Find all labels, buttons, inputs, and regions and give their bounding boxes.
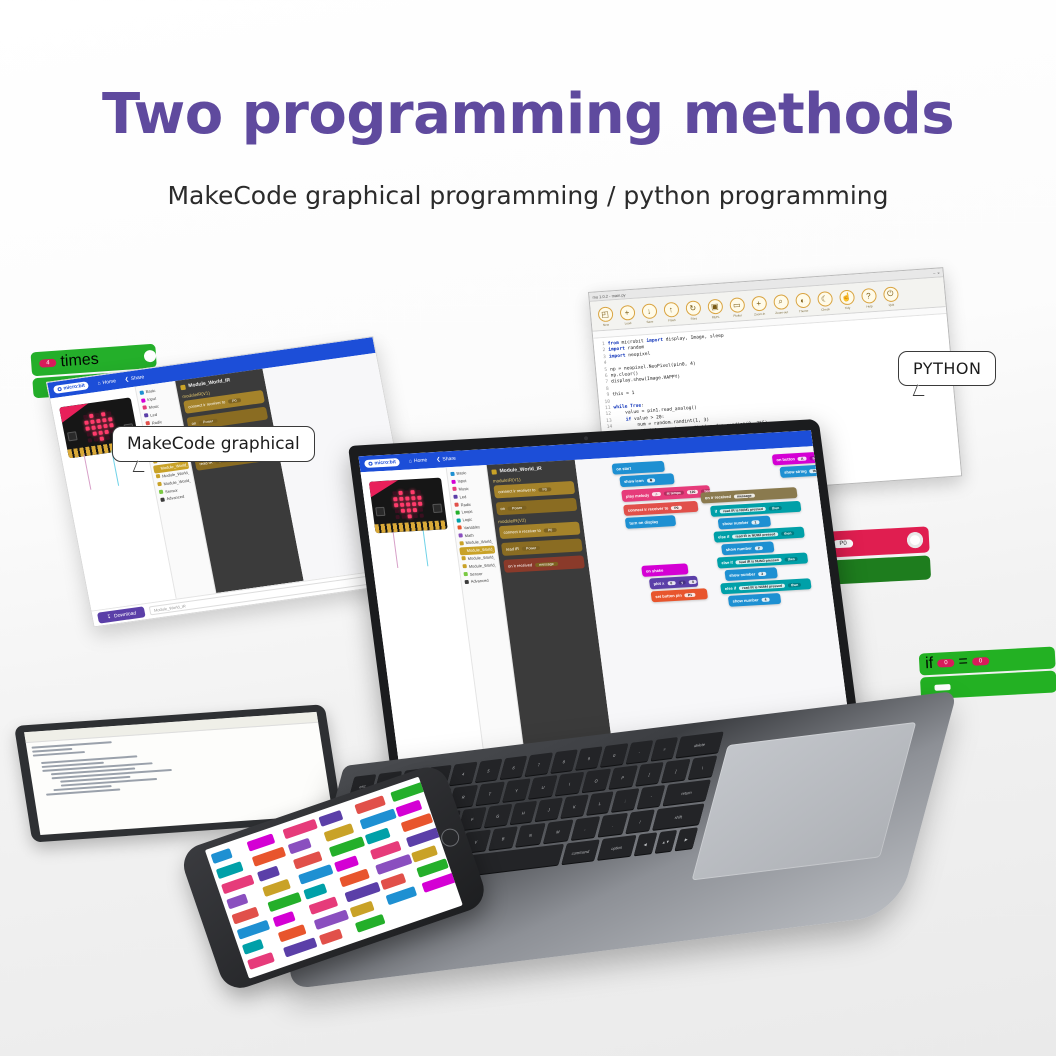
toolbox-category-label: Loops xyxy=(461,509,473,515)
flyout-block-value: P0 xyxy=(538,487,551,492)
home-icon: ⌂ xyxy=(409,458,413,464)
toolbar-label: New xyxy=(603,322,609,326)
toolbox-category-label: Module_World_IR xyxy=(466,547,494,554)
nav-home-button[interactable]: ⌂ Home xyxy=(409,457,428,464)
flyout-block-label: on xyxy=(500,506,505,511)
phone-block-tile xyxy=(278,924,307,942)
category-color-icon xyxy=(139,390,144,394)
category-color-icon xyxy=(456,518,461,522)
workspace-block[interactable]: on shake xyxy=(641,563,688,577)
led-matrix xyxy=(83,411,116,442)
phone-block-tile xyxy=(252,847,286,867)
flyout-block-label: read IR xyxy=(506,546,520,552)
keyboard-key[interactable]: delete xyxy=(676,731,724,757)
keyboard-key[interactable]: shift xyxy=(653,803,705,830)
workspace-block-label: plot x xyxy=(653,581,664,587)
workspace-block-label: else if xyxy=(721,560,733,566)
flyout-block[interactable]: read IR Power xyxy=(501,538,583,556)
flyout-block-value: message xyxy=(535,561,558,566)
led-pixel xyxy=(393,503,398,507)
phone-block-tile xyxy=(298,864,333,885)
toolbox-category-label: Music xyxy=(458,486,469,492)
callout-python-label: PYTHON xyxy=(913,359,981,378)
flyout-block-label: connect ir receiver to xyxy=(188,399,226,409)
repl-icon[interactable]: ▣REPL xyxy=(704,298,726,319)
category-color-icon xyxy=(154,467,159,471)
keyboard-key[interactable]: ] xyxy=(662,759,691,783)
keyboard-key[interactable]: L xyxy=(586,791,614,815)
plotter-icon-glyph: ▭ xyxy=(729,297,745,313)
toolbox-category-label: Basic xyxy=(456,471,466,477)
flash-icon[interactable]: ↑Flash xyxy=(660,301,682,322)
help-icon[interactable]: ?Help xyxy=(858,287,880,308)
keyboard-key[interactable]: ; xyxy=(612,788,640,812)
flyout-block[interactable]: connect ir receiver to P0 xyxy=(499,522,581,540)
laptop-trackpad[interactable] xyxy=(692,722,917,881)
keyboard-key[interactable]: ◀ xyxy=(634,832,657,855)
keyboard-key[interactable]: N xyxy=(516,823,546,847)
led-pixel xyxy=(104,430,109,434)
keyboard-key[interactable]: command xyxy=(561,839,600,864)
led-pixel xyxy=(398,491,403,495)
workspace-block-value[interactable]: A xyxy=(798,456,807,460)
quit-icon-glyph: ⏻ xyxy=(882,286,898,302)
led-pixel xyxy=(417,502,422,506)
keyboard-key[interactable]: return xyxy=(663,779,711,805)
microbit-button-a[interactable] xyxy=(375,507,385,516)
workspace-block-value[interactable]: pressed xyxy=(809,455,829,460)
workspace-block-label: show number xyxy=(725,546,752,552)
workspace-block[interactable]: connect ir receiver toP0 xyxy=(623,501,699,516)
toolbox-category-label: Input xyxy=(147,396,157,402)
share-icon: ❮ xyxy=(124,376,129,382)
toolbox-category-label: Led xyxy=(150,412,158,418)
flyout-block-label: connect ir receiver to xyxy=(498,487,536,494)
keyboard-key[interactable]: / xyxy=(625,809,655,833)
led-pixel xyxy=(401,515,406,519)
workspace-block-value[interactable]: message xyxy=(734,493,755,498)
category-color-icon xyxy=(464,580,469,584)
toolbox-category-label: Music xyxy=(148,403,159,409)
led-pixel xyxy=(86,432,91,436)
toolbox-category-label: Input xyxy=(457,478,467,483)
keyboard-key[interactable]: M xyxy=(543,819,573,843)
led-pixel xyxy=(405,502,410,506)
led-pixel xyxy=(90,420,95,424)
toolbox-category-label: Basic xyxy=(145,388,156,394)
flyout-title-label: Module_World_IR xyxy=(499,466,542,474)
phone-block-tile xyxy=(211,848,233,864)
sim-wire-pink xyxy=(393,532,399,568)
keyboard-key[interactable]: 7 xyxy=(525,752,553,776)
led-pixel xyxy=(97,425,102,429)
download-label: Download xyxy=(114,610,137,619)
flyout-block-value: Power xyxy=(508,505,527,510)
phone-block-tile xyxy=(386,886,418,905)
workspace-block-label: connect ir receiver to xyxy=(627,505,668,512)
led-pixel xyxy=(399,497,404,501)
phone-block-tile xyxy=(267,892,301,912)
plotter-icon[interactable]: ▭Plotter xyxy=(726,296,748,317)
category-color-icon xyxy=(450,472,455,476)
toolbox-category-label: Sensor xyxy=(469,571,482,577)
workspace-block-value[interactable]: 0 xyxy=(667,580,675,584)
flyout-block-value: Power xyxy=(199,418,218,424)
category-color-icon xyxy=(461,557,466,561)
workspace-block-value[interactable]: read IR is NUM2 pressed xyxy=(732,532,778,539)
workspace-block[interactable]: show number1 xyxy=(718,516,771,530)
toolbox-category-label: Advanced xyxy=(470,578,488,584)
led-pixel xyxy=(410,490,415,494)
flyout-block-value: P0 xyxy=(544,527,557,532)
led-pixel xyxy=(84,421,89,425)
brand-label: micro:bit xyxy=(63,383,85,392)
category-color-icon xyxy=(453,495,458,499)
toolbar-label: Plotter xyxy=(733,313,742,318)
workspace-block-value[interactable]: 4 xyxy=(761,597,769,601)
callout-python: PYTHON xyxy=(898,351,996,386)
keyboard-key[interactable]: ▶ xyxy=(675,827,698,850)
led-pixel xyxy=(419,514,424,518)
led-pixel xyxy=(413,514,418,518)
workspace-block-value[interactable]: y xyxy=(678,580,686,584)
led-pixel xyxy=(392,491,397,495)
repeat-count-pill: 4 xyxy=(39,359,57,368)
keyboard-key[interactable]: 5 xyxy=(475,759,503,783)
nav-home-button[interactable]: ⌂ Home xyxy=(97,378,116,386)
share-icon: ❮ xyxy=(436,457,441,463)
phone-block-tile xyxy=(334,855,359,872)
phone-block-tile xyxy=(390,781,428,803)
python-window-title: mu 1.0.2 - main.py xyxy=(592,292,626,299)
home-icon: ⌂ xyxy=(97,380,101,386)
flyout-block[interactable]: on Power xyxy=(496,498,578,516)
toolbox-category-label: Variables xyxy=(463,524,480,530)
microbit-logo: micro:bit xyxy=(53,381,90,394)
category-color-icon xyxy=(159,490,164,494)
microbit-edge-connector xyxy=(374,520,447,533)
led-pixel xyxy=(411,502,416,506)
microbit-logo: micro:bit xyxy=(364,458,400,468)
new-file-icon[interactable]: ◰New xyxy=(594,306,616,327)
load-icon-glyph: + xyxy=(619,304,635,320)
flyout-block[interactable]: connect ir receiver to P0 xyxy=(493,481,575,499)
phone-block-tile xyxy=(226,893,248,909)
workspace-block-value[interactable]: read IR is NUM4 pressed xyxy=(739,583,785,590)
led-pixel xyxy=(93,437,98,441)
workspace-block-value[interactable]: P1 xyxy=(685,592,696,597)
keyboard-key[interactable]: [ xyxy=(635,762,664,786)
download-button[interactable]: ↧ Download xyxy=(97,606,146,623)
led-pixel xyxy=(106,411,111,415)
phone-block-tile xyxy=(355,914,386,933)
workspace-block[interactable]: show number4 xyxy=(728,593,781,607)
led-pixel xyxy=(412,508,417,512)
workspace-block-label: play melody xyxy=(626,492,650,498)
window-controls[interactable]: – × xyxy=(933,270,940,275)
microbit-button-a[interactable] xyxy=(67,431,78,441)
toolbar-label: Zoom-in xyxy=(754,311,765,316)
block-knob xyxy=(144,350,157,363)
workspace-block-label: show number xyxy=(722,520,749,526)
led-matrix xyxy=(392,490,424,519)
phone-block-tile xyxy=(395,800,422,818)
keyboard-key[interactable]: . xyxy=(598,813,628,837)
page-subtitle: MakeCode graphical programming / python … xyxy=(0,181,1056,210)
phone-block-tile xyxy=(262,879,291,897)
flyout-block[interactable]: on ir received message xyxy=(503,555,585,573)
led-pixel xyxy=(98,431,103,435)
workspace-block-label: if xyxy=(714,509,717,514)
close-icon[interactable]: × xyxy=(937,270,940,275)
category-color-icon xyxy=(457,526,462,530)
workspace-block[interactable]: show icon❄ xyxy=(619,473,674,487)
theme-icon-glyph: ◐ xyxy=(794,292,810,308)
nav-share-button[interactable]: ❮ Share xyxy=(124,374,145,383)
workspace-block[interactable]: plot x0y0 xyxy=(649,576,698,590)
toolbar-label: Flash xyxy=(668,317,676,321)
callout-makecode-label: MakeCode graphical xyxy=(127,434,300,454)
keyboard-key[interactable]: \ xyxy=(688,755,717,779)
phone-block-tile xyxy=(303,883,327,900)
toolbox-category-label: Logic xyxy=(462,517,472,523)
workspace-block[interactable]: on start xyxy=(612,461,665,475)
workspace-block-label: on button xyxy=(776,456,795,462)
led-pixel xyxy=(94,413,99,417)
phone-block-tile xyxy=(231,907,259,925)
phone-block-tile xyxy=(318,810,343,827)
workspace-block[interactable]: set button pinP1 xyxy=(651,588,708,602)
keyboard-key[interactable]: O xyxy=(582,768,611,792)
led-pixel xyxy=(411,496,416,500)
workspace-block-label: show icon xyxy=(624,478,644,484)
sim-wire-pink xyxy=(83,454,91,489)
phone-block-tile xyxy=(257,866,280,882)
keyboard-key[interactable]: , xyxy=(571,816,601,840)
category-color-icon xyxy=(145,421,150,425)
led-pixel xyxy=(85,426,90,430)
check-icon[interactable]: ☾Check xyxy=(814,290,836,311)
makecode-workspace[interactable]: on startshow icon❄play melody♫at tempo12… xyxy=(575,446,851,746)
phone-block-tile xyxy=(283,937,317,957)
workspace-block-value[interactable]: ♫ xyxy=(652,492,661,496)
flyout-title: Module_World_IR xyxy=(491,464,572,475)
flyout-block-label: on ir received xyxy=(508,562,533,568)
phone-block-tile xyxy=(273,911,296,927)
workspace-block-value[interactable]: read IR is NUM3 pressed xyxy=(736,557,782,564)
keyboard-key[interactable]: G xyxy=(484,804,512,828)
keyboard-key[interactable]: 6 xyxy=(500,756,528,780)
led-pixel xyxy=(100,412,105,416)
webcam-icon xyxy=(584,436,589,440)
flyout-block-label: connect ir receiver to xyxy=(503,528,541,535)
toolbar-label: Save xyxy=(646,319,653,323)
keyboard-key[interactable]: ' xyxy=(637,785,665,809)
keyboard-key[interactable]: J xyxy=(535,798,563,822)
brand-label: micro:bit xyxy=(374,459,396,466)
toolbar-label: Zoom-out xyxy=(775,310,788,315)
toolbar-label: REPL xyxy=(712,314,720,319)
led-pixel xyxy=(395,515,400,519)
download-icon: ↧ xyxy=(106,613,111,619)
flyout-block-value: P0 xyxy=(228,398,241,404)
led-pixel xyxy=(404,491,409,495)
led-pixel xyxy=(405,496,410,500)
toolbar-label: Quit xyxy=(888,302,894,306)
keyboard-key[interactable]: Y xyxy=(502,778,531,802)
zoom-in-icon[interactable]: +Zoom-in xyxy=(748,295,770,316)
phone-block-tile xyxy=(411,845,438,863)
tidy-icon[interactable]: ☝Tidy xyxy=(836,289,858,310)
led-pixel xyxy=(394,509,399,513)
keyboard-key[interactable]: = xyxy=(651,737,679,761)
led-pixel xyxy=(107,417,112,421)
toolbox-category-label: Radio xyxy=(460,501,471,507)
phone-block-tile xyxy=(237,920,271,940)
workspace-block-value[interactable]: read IR is NUM1 pressed xyxy=(720,506,766,513)
led-pixel xyxy=(103,424,108,428)
category-color-icon xyxy=(157,482,162,486)
led-pixel xyxy=(88,414,93,418)
minimize-icon[interactable]: – xyxy=(933,270,936,275)
workspace-block-value[interactable]: 3 xyxy=(758,571,766,575)
led-pixel xyxy=(417,496,422,500)
workspace-block-value[interactable]: at tempo xyxy=(663,491,684,496)
keyboard-key[interactable]: K xyxy=(560,794,588,818)
workspace-block-value[interactable]: ❄ xyxy=(646,478,655,482)
nav-share-button[interactable]: ❮ Share xyxy=(436,456,456,463)
led-pixel xyxy=(99,437,104,441)
theme-icon[interactable]: ◐Theme xyxy=(792,292,814,313)
category-color-icon xyxy=(462,564,467,568)
sim-wire-blue xyxy=(423,531,429,567)
toolbar-label: Theme xyxy=(799,308,809,313)
workspace-block-value[interactable]: 1 xyxy=(751,520,759,524)
workspace-block-value[interactable]: then xyxy=(781,531,795,536)
phone-block-tile xyxy=(221,874,255,894)
save-icon-glyph: ↓ xyxy=(641,303,657,319)
header-block: Two programming methods MakeCode graphic… xyxy=(0,0,1056,210)
keyboard-key[interactable]: option xyxy=(598,835,637,860)
led-pixel xyxy=(407,514,412,518)
workspace-block[interactable]: else ifread IR is NUM4 pressedthen xyxy=(720,578,812,594)
page-title: Two programming methods xyxy=(0,82,1056,147)
load-icon[interactable]: +Load xyxy=(616,304,638,325)
workspace-block-value[interactable]: 2 xyxy=(755,545,763,549)
led-pixel xyxy=(418,508,423,512)
microbit-button-b[interactable] xyxy=(432,504,442,513)
workspace-block-value[interactable]: then xyxy=(788,582,802,587)
keyboard-key[interactable]: I xyxy=(555,772,584,796)
zoom-out-icon[interactable]: ⌕Zoom-out xyxy=(770,293,792,314)
toolbox-category-advanced[interactable]: Advanced xyxy=(463,576,499,586)
category-color-icon xyxy=(144,413,149,417)
workspace-block[interactable]: ifread IR is NUM1 pressedthen xyxy=(710,501,802,517)
workspace-block[interactable]: turn on display xyxy=(625,515,676,529)
led-pixel xyxy=(91,426,96,430)
toolbox-category-label: Led xyxy=(459,494,466,499)
callout-makecode: MakeCode graphical xyxy=(112,426,315,462)
nav-home-label: Home xyxy=(102,378,116,386)
phone-block-tile xyxy=(309,896,339,915)
led-pixel xyxy=(87,438,92,442)
files-icon[interactable]: ↻Files xyxy=(682,300,704,321)
nav-home-label: Home xyxy=(414,457,428,464)
keyboard-key[interactable]: 9 xyxy=(575,746,603,770)
workspace-block-value[interactable]: then xyxy=(784,556,798,561)
save-icon[interactable]: ↓Save xyxy=(638,303,660,324)
keyboard-key[interactable]: 0 xyxy=(601,743,629,767)
category-color-icon xyxy=(142,406,147,410)
workspace-block-value[interactable]: 120 xyxy=(687,490,699,495)
flash-icon-glyph: ↑ xyxy=(663,301,679,317)
led-pixel xyxy=(416,490,421,494)
help-icon-glyph: ? xyxy=(860,287,876,303)
microbit-simulator xyxy=(368,478,447,534)
led-pixel xyxy=(83,415,88,419)
workspace-block-label: turn on display xyxy=(629,519,658,526)
keyboard-key[interactable]: - xyxy=(626,740,654,764)
led-pixel xyxy=(92,431,97,435)
keyboard-key[interactable]: 4 xyxy=(450,762,478,786)
keyboard-key[interactable]: 8 xyxy=(550,749,578,773)
workspace-block-value[interactable]: then xyxy=(769,505,783,510)
toolbar-label: Check xyxy=(821,307,830,312)
category-color-icon xyxy=(459,541,464,545)
workspace-block-label: on shake xyxy=(646,568,664,574)
category-color-icon xyxy=(454,503,459,507)
keyboard-key[interactable]: B xyxy=(488,826,518,850)
workspace-block[interactable]: show stringHello xyxy=(779,464,834,478)
phone-block-tile xyxy=(282,819,317,840)
toolbox-category-label: Radio xyxy=(151,419,162,425)
toolbox-category-label: Math xyxy=(464,532,474,537)
keyboard-key[interactable]: P xyxy=(608,765,637,789)
workspace-block-label: show string xyxy=(784,469,807,475)
workspace-block-label: on ir received xyxy=(704,494,731,500)
keyboard-key[interactable]: U xyxy=(529,775,558,799)
phone-block-tile xyxy=(288,838,312,855)
toolbar-label: Tidy xyxy=(845,305,851,309)
phone-block-tile xyxy=(242,939,264,955)
keyboard-key[interactable]: T xyxy=(475,782,504,806)
workspace-block-value[interactable]: 0 xyxy=(689,579,697,583)
phone-block-tile xyxy=(247,833,276,851)
led-pixel xyxy=(101,418,106,422)
category-color-icon xyxy=(455,510,460,514)
category-color-icon xyxy=(156,474,161,478)
nav-share-label: Share xyxy=(130,374,144,382)
keyboard-key[interactable]: H xyxy=(509,801,537,825)
category-color-icon xyxy=(180,384,186,390)
flyout-block-value: Power xyxy=(522,545,541,550)
workspace-block[interactable]: show number3 xyxy=(724,567,777,581)
workspace-block-value[interactable]: Hello xyxy=(809,468,824,473)
workspace-block-value[interactable]: P0 xyxy=(671,505,682,510)
repl-icon-glyph: ▣ xyxy=(707,298,723,314)
workspace-block[interactable]: on buttonApressed xyxy=(772,451,835,465)
workspace-block[interactable]: play melody♫at tempo120bpm xyxy=(621,485,711,502)
quit-icon[interactable]: ⏻Quit xyxy=(880,286,902,307)
led-pixel xyxy=(406,508,411,512)
workspace-block-label: on start xyxy=(616,466,631,472)
workspace-block[interactable]: show number2 xyxy=(721,541,774,555)
phone-block-tile xyxy=(350,901,375,918)
category-color-icon xyxy=(452,487,457,491)
phone-block-tile xyxy=(365,827,391,844)
workspace-block-label: set button pin xyxy=(655,593,682,599)
zoom-in-icon-glyph: + xyxy=(751,295,767,311)
